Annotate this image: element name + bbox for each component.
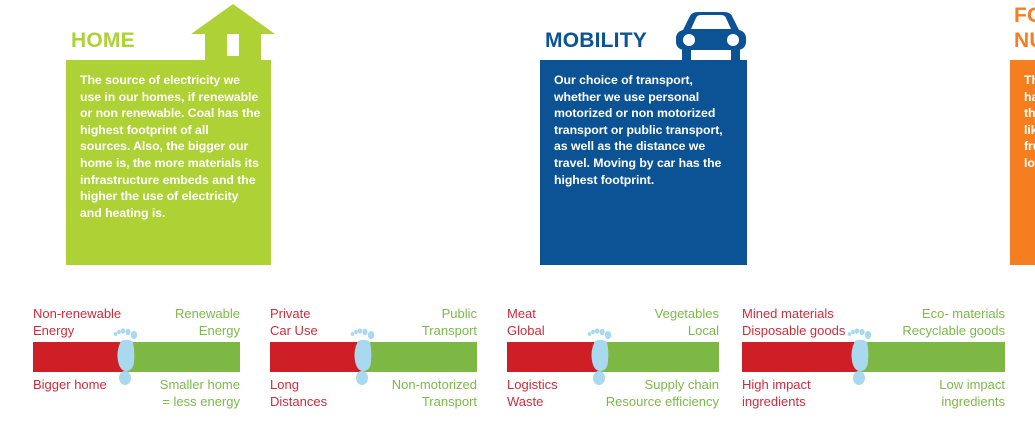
scale-label-bottom-good: Smaller home = less energy	[160, 376, 240, 410]
scale-label-bottom-bad: High impact ingredients	[742, 376, 811, 410]
panel-title-mobility: MOBILITY	[545, 28, 647, 53]
footprint-infographic: HOME The source of electricity we use in…	[0, 0, 1035, 436]
panel-body-box-mobility: Our choice of transport, whether we use …	[540, 60, 747, 265]
scale-label-bottom-good: Supply chain Resource efficiency	[606, 376, 719, 410]
house-icon	[191, 4, 275, 62]
scale-label-bottom-bad: Bigger home	[33, 376, 107, 393]
scale-bottom-labels: Bigger home Smaller home = less energy	[33, 372, 240, 414]
scale-label-top-bad: Meat Global	[507, 305, 545, 339]
scale-label-top-bad: Non-renewable Energy	[33, 305, 121, 339]
scale-label-bottom-good: Low impact ingredients	[939, 376, 1005, 410]
scale-bar-high-impact	[33, 342, 126, 372]
scale-bar-high-impact	[742, 342, 860, 372]
scale-label-top-good: Renewable Energy	[175, 305, 240, 339]
scale-bar-high-impact	[507, 342, 600, 372]
impact-scale-food: Meat Global Vegetables Local	[507, 305, 719, 414]
scale-label-top-good: Vegetables Local	[655, 305, 719, 339]
scale-label-bottom-good: Non-motorized Transport	[392, 376, 477, 410]
scale-bottom-labels: High impact ingredients Low impact ingre…	[742, 372, 1005, 414]
scale-top-labels: Meat Global Vegetables Local	[507, 305, 719, 342]
panel-title-food: FOOD & NUTRITION	[1014, 3, 1035, 53]
scale-bar	[742, 342, 1005, 372]
panel-description-food: The kind of food we eat. Meat has a much…	[1024, 72, 1035, 172]
scale-label-top-bad: Private Car Use	[270, 305, 318, 339]
scale-label-bottom-bad: Long Distances	[270, 376, 327, 410]
panel-title-home: HOME	[71, 28, 135, 53]
impact-scale-home: Non-renewable Energy Renewable Energy	[33, 305, 240, 414]
panel-body-box-home: The source of electricity we use in our …	[66, 60, 271, 265]
scale-top-labels: Non-renewable Energy Renewable Energy	[33, 305, 240, 342]
scale-top-labels: Mined materials Disposable goods Eco- ma…	[742, 305, 1005, 342]
scale-bar-low-impact	[600, 342, 719, 372]
scale-label-top-bad: Mined materials Disposable goods	[742, 305, 845, 339]
impact-scale-household: Mined materials Disposable goods Eco- ma…	[742, 305, 1005, 414]
panel-description-mobility: Our choice of transport, whether we use …	[554, 72, 737, 188]
car-icon	[672, 12, 750, 62]
scale-bar	[33, 342, 240, 372]
scale-label-bottom-bad: Logistics Waste	[507, 376, 558, 410]
scale-top-labels: Private Car Use Public Transport	[270, 305, 477, 342]
scale-bar-low-impact	[860, 342, 1005, 372]
scale-bar-low-impact	[363, 342, 477, 372]
scale-bar	[270, 342, 477, 372]
scale-label-top-good: Eco- materials Recyclable goods	[902, 305, 1005, 339]
impact-scale-mobility: Private Car Use Public Transport	[270, 305, 477, 414]
scale-bottom-labels: Logistics Waste Supply chain Resource ef…	[507, 372, 719, 414]
scale-bottom-labels: Long Distances Non-motorized Transport	[270, 372, 477, 414]
panel-body-box-food: The kind of food we eat. Meat has a much…	[1010, 60, 1035, 265]
scale-bar-low-impact	[126, 342, 240, 372]
scale-label-top-good: Public Transport	[422, 305, 477, 339]
panel-description-home: The source of electricity we use in our …	[80, 72, 261, 221]
scale-bar-high-impact	[270, 342, 363, 372]
scale-bar	[507, 342, 719, 372]
